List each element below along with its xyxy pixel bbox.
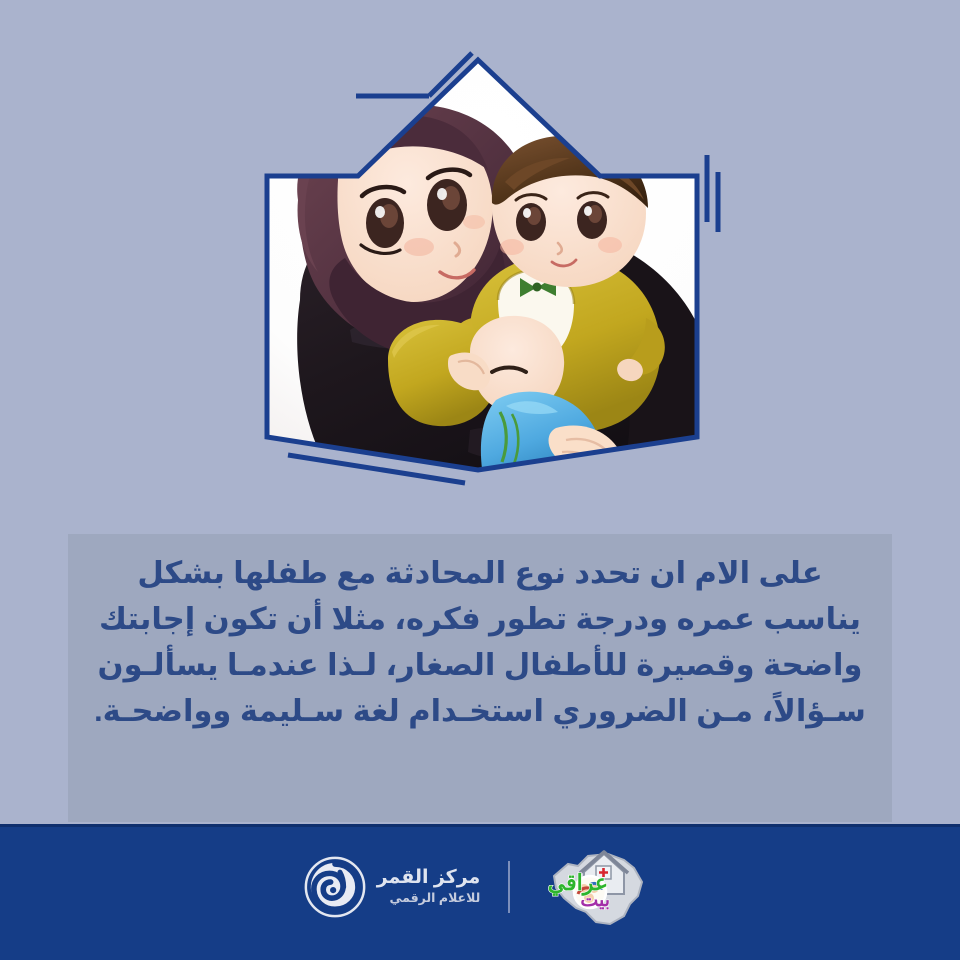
- brand-secondary[interactable]: بيت عراقي: [538, 842, 656, 933]
- brand-primary[interactable]: مركز القمر للاعلام الرقمي: [304, 856, 481, 918]
- brand-primary-subtitle: للاعلام الرقمي: [377, 892, 481, 906]
- svg-text:عراقي: عراقي: [548, 870, 608, 896]
- body-text-panel: على الام ان تحدد نوع المحادثة مع طفلها ب…: [68, 534, 892, 822]
- hero-illustration-block: [0, 0, 960, 520]
- footer-bar: مركز القمر للاعلام الرقمي: [0, 824, 960, 960]
- brand-primary-text: مركز القمر للاعلام الرقمي: [377, 868, 481, 905]
- hero-illustration: [250, 50, 720, 490]
- circular-monogram-logo-icon: [304, 856, 366, 918]
- poster-canvas: على الام ان تحدد نوع المحادثة مع طفلها ب…: [0, 0, 960, 960]
- iraq-map-house-logo-icon: بيت عراقي: [538, 842, 656, 928]
- brand-primary-name: مركز القمر: [377, 868, 481, 889]
- footer-logos-row: مركز القمر للاعلام الرقمي: [0, 841, 960, 933]
- hero-frame-svg: [0, 0, 960, 520]
- body-paragraph: على الام ان تحدد نوع المحادثة مع طفلها ب…: [82, 550, 878, 734]
- footer-divider: [508, 861, 510, 913]
